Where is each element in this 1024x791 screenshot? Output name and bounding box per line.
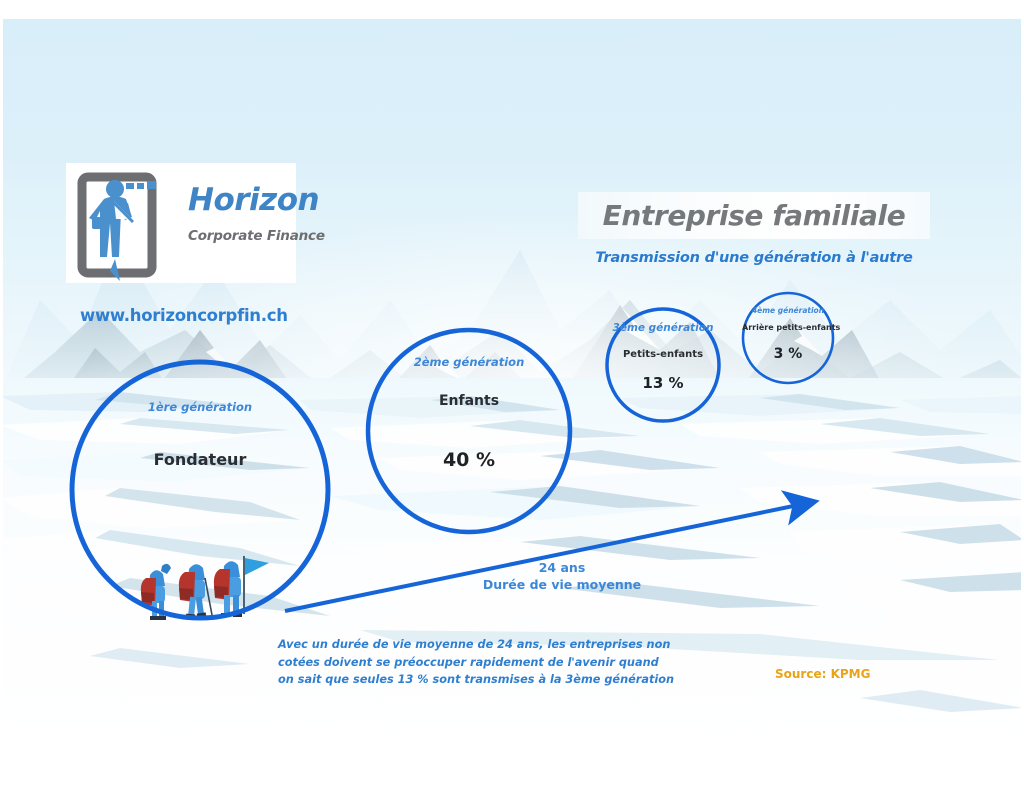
generation-group-2: 2ème génération Enfants 40 % [370,355,568,471]
bottom-margin [0,755,1024,791]
arrow-caption: 24 ans Durée de vie moyenne [462,560,662,594]
generation-group-3: 3ème génération Petits-enfants 13 % [608,322,718,392]
arrow-caption-line1: 24 ans [462,560,662,577]
page-subtitle: Transmission d'une génération à l'autre [578,250,930,266]
generation-percent-2: 40 % [370,449,568,471]
logo-wordmark: Horizon Corporate Finance [188,185,338,244]
logo-tagline: Corporate Finance [188,228,338,244]
generation-group-1: 1ère génération Fondateur [80,400,320,469]
website-url[interactable]: www.horizoncorpfin.ch [80,306,288,325]
source-label: Source: KPMG [775,667,870,681]
generation-role-4: Arrière petits-enfants [742,323,834,332]
left-margin [0,0,3,791]
generation-percent-4: 3 % [742,346,834,362]
generation-label-3: 3ème génération [608,322,718,334]
generation-group-4: 4ème génération Arrière petits-enfants 3… [742,306,834,362]
generation-role-2: Enfants [370,393,568,409]
footnote-text: Avec un durée de vie moyenne de 24 ans, … [278,636,678,689]
page-title: Entreprise familiale [578,191,930,240]
arrow-caption-line2: Durée de vie moyenne [462,577,662,594]
generation-label-1: 1ère génération [80,400,320,414]
logo-card: Horizon Corporate Finance [66,163,296,283]
logo-name: Horizon [188,185,338,216]
top-margin [0,0,1024,19]
generation-label-4: 4ème génération [742,306,834,315]
generation-role-1: Fondateur [80,450,320,469]
infographic-canvas: 1ère génération Fondateur 2ème génératio… [0,0,1024,791]
generation-role-3: Petits-enfants [608,349,718,360]
generation-label-2: 2ème génération [370,355,568,369]
generation-percent-3: 13 % [608,374,718,392]
explorer-telescope-icon [70,163,180,283]
